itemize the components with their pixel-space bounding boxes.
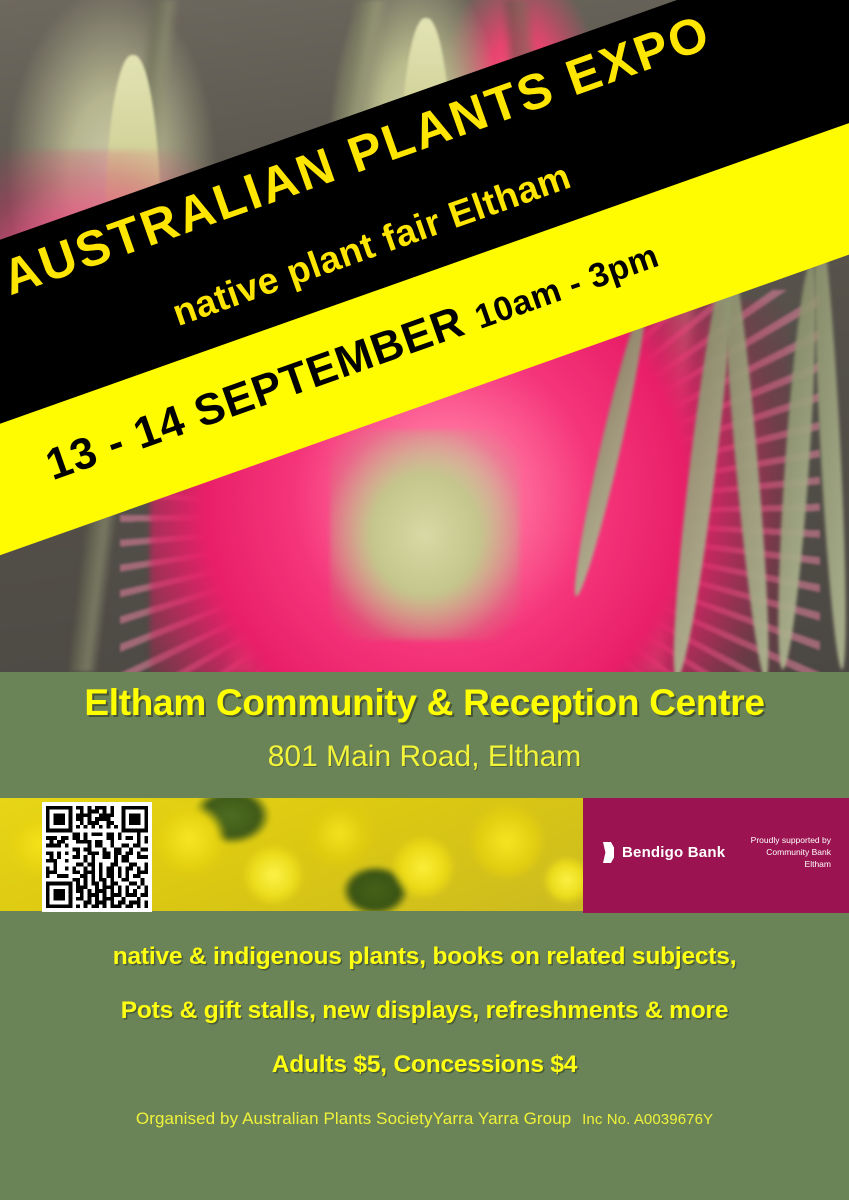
- sponsor-panel-bendigo-bank: Bendigo Bank Proudly supported by Commun…: [583, 798, 849, 913]
- support-line-3: Eltham: [751, 858, 831, 870]
- event-time: 10am - 3pm: [470, 237, 664, 337]
- venue-block: Eltham Community & Reception Centre 801 …: [0, 672, 849, 795]
- venue-name: Eltham Community & Reception Centre: [0, 672, 849, 724]
- support-line-2: Community Bank: [751, 846, 831, 858]
- organiser-line: Organised by Australian Plants SocietyYa…: [0, 1079, 849, 1129]
- venue-address: 801 Main Road, Eltham: [0, 724, 849, 774]
- grevillea-bloom-core: [330, 430, 520, 640]
- bendigo-bank-wordmark: Bendigo Bank: [622, 844, 725, 861]
- detail-line-goods: native & indigenous plants, books on rel…: [0, 915, 849, 971]
- poster: AUSTRALIAN PLANTS EXPO native plant fair…: [0, 0, 849, 1200]
- support-line-1: Proudly supported by: [751, 834, 831, 846]
- details-block: native & indigenous plants, books on rel…: [0, 915, 849, 1200]
- organiser-name: Organised by Australian Plants SocietyYa…: [136, 1109, 571, 1128]
- qr-code-icon: [42, 802, 152, 912]
- qr-code[interactable]: [42, 802, 152, 912]
- detail-line-pricing: Adults $5, Concessions $4: [0, 1025, 849, 1079]
- sponsor-support-text: Proudly supported by Community Bank Elth…: [751, 834, 831, 870]
- bendigo-bank-logo: Bendigo Bank: [603, 842, 725, 863]
- bendigo-bank-mark-icon: [603, 842, 614, 863]
- incorporation-number: Inc No. A0039676Y: [576, 1111, 713, 1128]
- detail-line-stalls: Pots & gift stalls, new displays, refres…: [0, 971, 849, 1025]
